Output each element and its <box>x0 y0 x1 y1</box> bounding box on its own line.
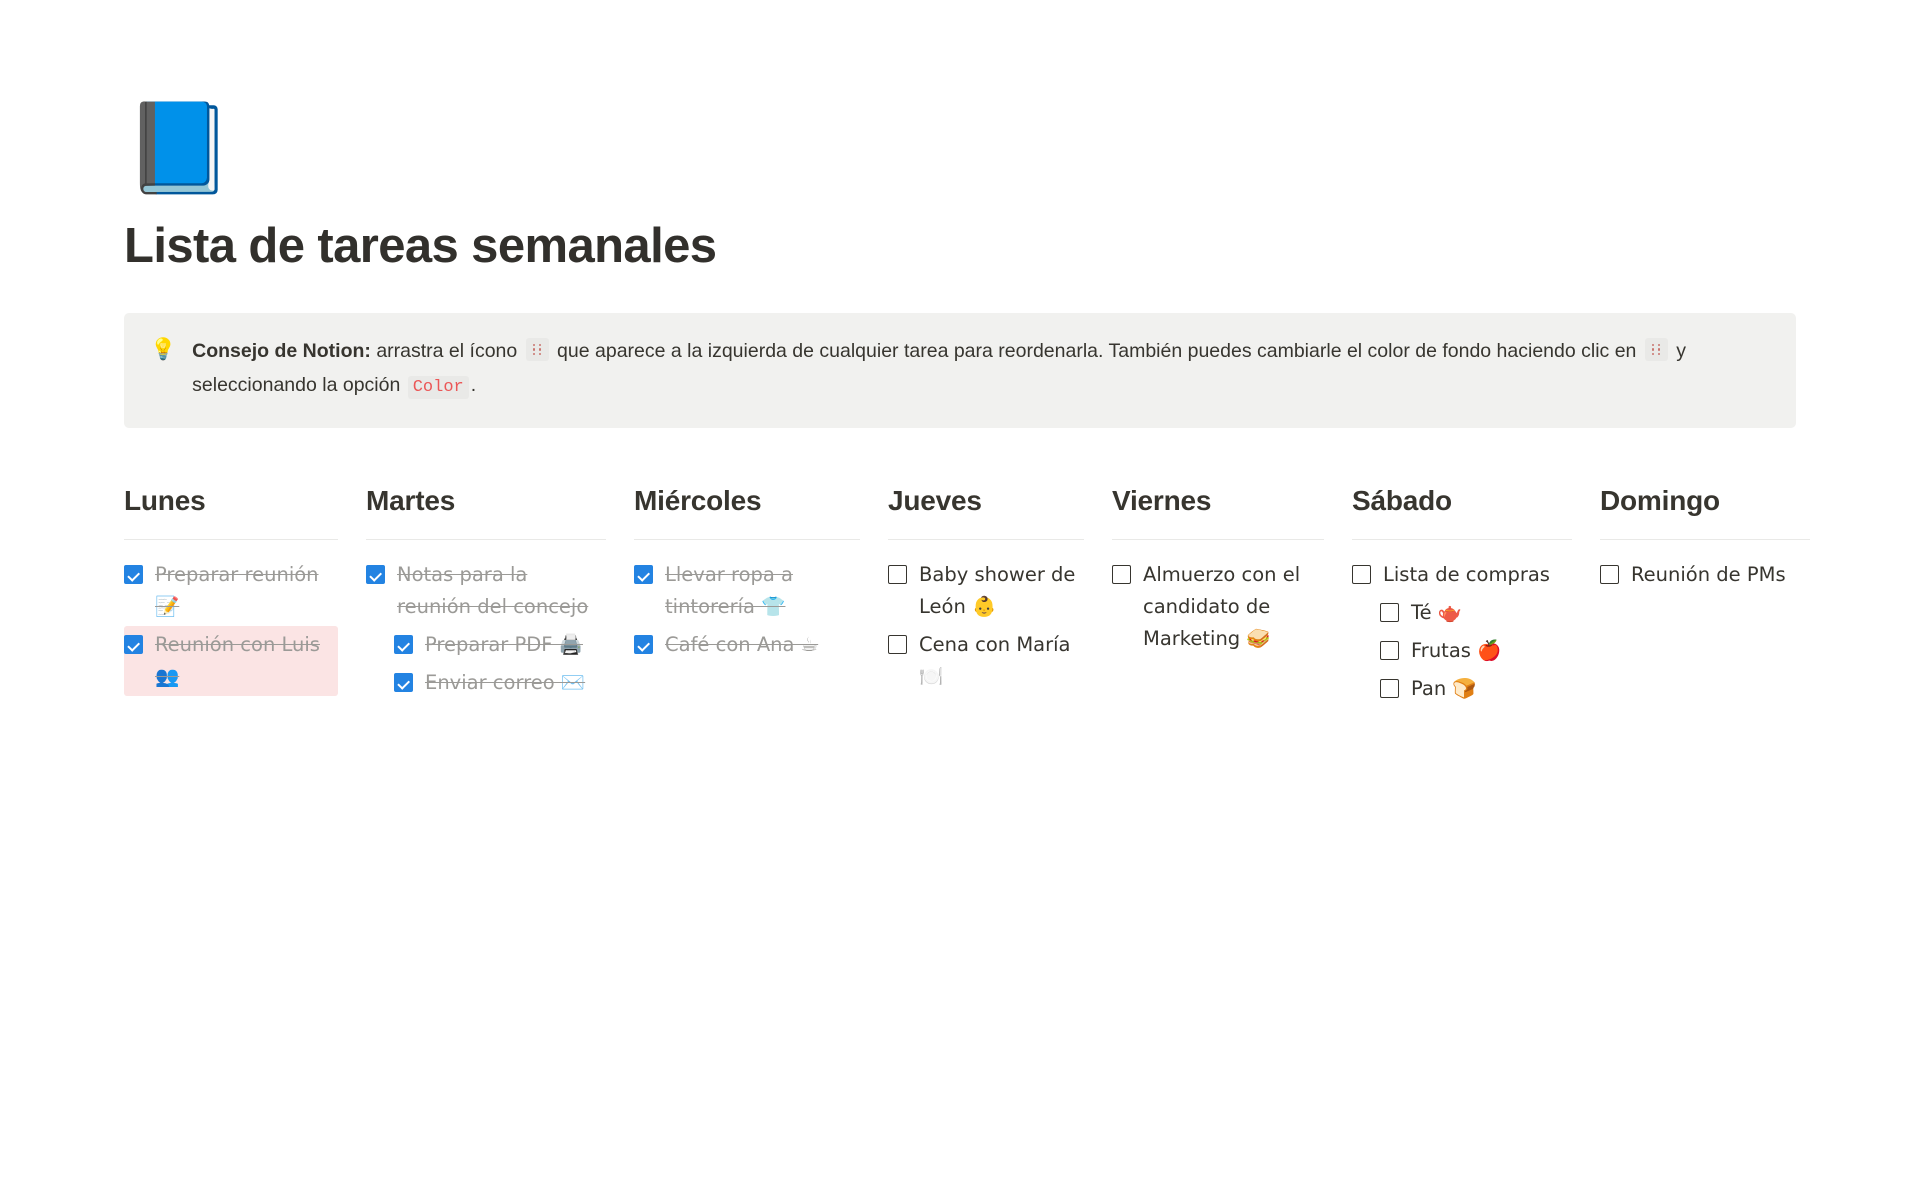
checkbox-checked-icon[interactable] <box>366 565 385 584</box>
notion-page: 📘 Lista de tareas semanales 💡 Consejo de… <box>0 0 1920 1199</box>
day-heading[interactable]: Lunes <box>124 484 338 518</box>
day-heading[interactable]: Domingo <box>1600 484 1810 518</box>
todo-item[interactable]: Enviar correo ✉️ <box>394 664 606 702</box>
day-column: DomingoReunión de PMs <box>1600 484 1838 709</box>
drag-handle-icon[interactable] <box>1645 338 1668 361</box>
callout-text: Consejo de Notion: arrastra el ícono que… <box>192 334 1770 405</box>
day-column: JuevesBaby shower de León 👶Cena con Marí… <box>888 484 1112 709</box>
checkbox-unchecked-icon[interactable] <box>1380 679 1399 698</box>
divider <box>1600 539 1810 540</box>
todo-item[interactable]: Lista de compras <box>1352 556 1572 594</box>
light-bulb-icon: 💡 <box>150 334 176 365</box>
checkbox-unchecked-icon[interactable] <box>1380 603 1399 622</box>
todo-item[interactable]: Preparar PDF 🖨️ <box>394 626 606 664</box>
divider <box>1112 539 1324 540</box>
todo-item-label[interactable]: Té 🫖 <box>1411 597 1462 629</box>
day-column: ViernesAlmuerzo con el candidato de Mark… <box>1112 484 1352 709</box>
todo-item-label[interactable]: Reunión de PMs <box>1631 559 1786 591</box>
todo-item[interactable]: Almuerzo con el candidato de Marketing 🥪 <box>1112 556 1324 658</box>
checkbox-checked-icon[interactable] <box>124 635 143 654</box>
todo-item[interactable]: Reunión de PMs <box>1600 556 1810 594</box>
day-column: LunesPreparar reunión 📝Reunión con Luis … <box>124 484 366 709</box>
divider <box>1352 539 1572 540</box>
day-columns: LunesPreparar reunión 📝Reunión con Luis … <box>124 484 1804 709</box>
todo-item-label[interactable]: Enviar correo ✉️ <box>425 667 585 699</box>
callout-bold-prefix: Consejo de Notion: <box>192 340 371 362</box>
todo-item-label[interactable]: Preparar PDF 🖨️ <box>425 629 583 661</box>
todo-item-label[interactable]: Baby shower de León 👶 <box>919 559 1084 623</box>
callout-text-part-4: . <box>471 374 476 396</box>
checkbox-unchecked-icon[interactable] <box>1112 565 1131 584</box>
drag-handle-icon[interactable] <box>526 338 549 361</box>
checkbox-checked-icon[interactable] <box>634 565 653 584</box>
day-column: SábadoLista de comprasTé 🫖Frutas 🍎Pan 🍞 <box>1352 484 1600 709</box>
checkbox-checked-icon[interactable] <box>634 635 653 654</box>
page-content: 📘 Lista de tareas semanales 💡 Consejo de… <box>0 104 1920 708</box>
callout-text-part-2: que aparece a la izquierda de cualquier … <box>552 340 1642 362</box>
checkbox-checked-icon[interactable] <box>124 565 143 584</box>
day-heading[interactable]: Sábado <box>1352 484 1572 518</box>
todo-item[interactable]: Té 🫖 <box>1380 594 1572 632</box>
todo-item-label[interactable]: Cena con María 🍽️ <box>919 629 1084 693</box>
todo-item-label[interactable]: Lista de compras <box>1383 559 1550 591</box>
divider <box>366 539 606 540</box>
day-heading[interactable]: Miércoles <box>634 484 860 518</box>
todo-item[interactable]: Llevar ropa a tintorería 👕 <box>634 556 860 626</box>
todo-item-label[interactable]: Notas para la reunión del concejo <box>397 559 606 623</box>
todo-item-label[interactable]: Llevar ropa a tintorería 👕 <box>665 559 860 623</box>
day-column: MiércolesLlevar ropa a tintorería 👕Café … <box>634 484 888 709</box>
todo-item[interactable]: Preparar reunión 📝 <box>124 556 338 626</box>
day-column: MartesNotas para la reunión del concejoP… <box>366 484 634 709</box>
day-heading[interactable]: Jueves <box>888 484 1084 518</box>
todo-item[interactable]: Baby shower de León 👶 <box>888 556 1084 626</box>
todo-item-label[interactable]: Pan 🍞 <box>1411 673 1477 705</box>
todo-item-label[interactable]: Reunión con Luis 👥 <box>155 629 338 693</box>
divider <box>124 539 338 540</box>
checkbox-unchecked-icon[interactable] <box>888 565 907 584</box>
callout-text-part-1: arrastra el ícono <box>371 340 523 362</box>
todo-item[interactable]: Pan 🍞 <box>1380 670 1572 708</box>
callout-block[interactable]: 💡 Consejo de Notion: arrastra el ícono q… <box>124 313 1796 428</box>
day-heading[interactable]: Martes <box>366 484 606 518</box>
todo-item[interactable]: Reunión con Luis 👥 <box>124 626 338 696</box>
todo-item-label[interactable]: Café con Ana ☕ <box>665 629 818 661</box>
checkbox-checked-icon[interactable] <box>394 635 413 654</box>
code-chip-color: Color <box>408 376 469 399</box>
page-title[interactable]: Lista de tareas semanales <box>124 218 1796 275</box>
checkbox-unchecked-icon[interactable] <box>888 635 907 654</box>
checkbox-unchecked-icon[interactable] <box>1600 565 1619 584</box>
divider <box>634 539 860 540</box>
blue-book-emoji[interactable]: 📘 <box>124 104 1796 208</box>
day-heading[interactable]: Viernes <box>1112 484 1324 518</box>
todo-item-label[interactable]: Preparar reunión 📝 <box>155 559 338 623</box>
todo-item-label[interactable]: Frutas 🍎 <box>1411 635 1501 667</box>
checkbox-unchecked-icon[interactable] <box>1380 641 1399 660</box>
todo-item[interactable]: Frutas 🍎 <box>1380 632 1572 670</box>
todo-item[interactable]: Cena con María 🍽️ <box>888 626 1084 696</box>
todo-item[interactable]: Café con Ana ☕ <box>634 626 860 664</box>
checkbox-checked-icon[interactable] <box>394 673 413 692</box>
todo-item[interactable]: Notas para la reunión del concejo <box>366 556 606 626</box>
todo-item-label[interactable]: Almuerzo con el candidato de Marketing 🥪 <box>1143 559 1324 655</box>
checkbox-unchecked-icon[interactable] <box>1352 565 1371 584</box>
divider <box>888 539 1084 540</box>
